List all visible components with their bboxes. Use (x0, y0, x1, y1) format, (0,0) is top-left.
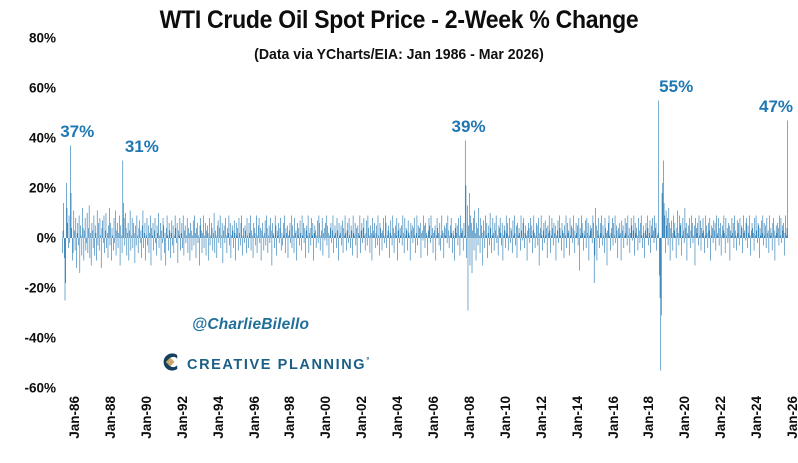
bar (297, 223, 298, 238)
bar (697, 223, 698, 238)
brand-name-label: CREATIVE PLANNING (187, 357, 366, 373)
bar (145, 223, 146, 238)
bar (527, 231, 528, 239)
bar (319, 223, 320, 238)
bar (315, 226, 316, 239)
bar (233, 238, 234, 248)
bar (312, 236, 313, 239)
bar (732, 233, 733, 238)
bar (672, 233, 673, 238)
bar (235, 238, 236, 261)
bar (213, 233, 214, 238)
bar (192, 236, 193, 239)
bar (535, 238, 536, 248)
bar (546, 236, 547, 239)
bar (724, 233, 725, 238)
bar (752, 228, 753, 238)
chart-container: WTI Crude Oil Spot Price - 2-Week % Chan… (0, 0, 798, 463)
bar (403, 233, 404, 238)
bar (696, 228, 697, 238)
bar (670, 228, 671, 238)
bar (303, 223, 304, 238)
bar (105, 231, 106, 239)
bar (356, 228, 357, 238)
bar (217, 226, 218, 239)
bar (180, 218, 181, 238)
bar (653, 231, 654, 239)
bar (527, 238, 528, 261)
bar (679, 238, 680, 246)
bar (198, 236, 199, 239)
bar (65, 238, 66, 283)
bar (645, 231, 646, 239)
bar (486, 236, 487, 239)
x-axis-tick-label: Jan-06 (426, 396, 441, 439)
bar (505, 231, 506, 239)
bar (524, 238, 525, 248)
bar (202, 233, 203, 238)
bar (266, 216, 267, 239)
bar (116, 231, 117, 239)
bar (398, 223, 399, 238)
x-axis-tick-label: Jan-04 (390, 396, 405, 439)
bar (170, 238, 171, 258)
bar (81, 236, 82, 239)
bar (397, 238, 398, 261)
bar (279, 238, 280, 243)
bar (466, 186, 467, 239)
bar (437, 218, 438, 238)
bar (77, 233, 78, 238)
bar (529, 228, 530, 238)
bar (175, 216, 176, 239)
bar (284, 216, 285, 239)
bar (157, 233, 158, 238)
bar (336, 238, 337, 248)
bar (775, 236, 776, 239)
bar (320, 238, 321, 251)
bar (298, 228, 299, 238)
bar (664, 203, 665, 238)
bar (465, 141, 466, 239)
bar (558, 238, 559, 243)
bar (427, 238, 428, 256)
bar (219, 228, 220, 238)
bar (646, 223, 647, 238)
bar (293, 236, 294, 239)
bar (196, 238, 197, 258)
bar (443, 238, 444, 258)
bar (137, 216, 138, 239)
bar (496, 216, 497, 239)
bar (662, 183, 663, 238)
bar (550, 238, 551, 253)
bar (666, 211, 667, 239)
bar (348, 238, 349, 243)
bar (64, 238, 65, 258)
bar (237, 228, 238, 238)
bar (539, 238, 540, 266)
bar (652, 236, 653, 239)
bar (457, 226, 458, 239)
bar (713, 238, 714, 243)
bar (75, 238, 76, 251)
bar (137, 236, 138, 239)
bar (255, 233, 256, 238)
bar (216, 236, 217, 239)
bar (400, 228, 401, 238)
bar (739, 238, 740, 246)
bar (656, 238, 657, 251)
bar (118, 233, 119, 238)
brand-name: CREATIVE PLANNING° (187, 356, 371, 373)
bar (300, 221, 301, 239)
bar (597, 231, 598, 239)
bar (695, 218, 696, 238)
bar (473, 218, 474, 238)
bar (387, 236, 388, 239)
bar (677, 211, 678, 239)
bar (408, 221, 409, 239)
bar (89, 206, 90, 239)
bar (345, 233, 346, 238)
bar (301, 238, 302, 251)
bar (221, 236, 222, 239)
bar (364, 236, 365, 239)
bar (544, 223, 545, 238)
bar (196, 228, 197, 238)
bar (772, 238, 773, 251)
bar (317, 236, 318, 239)
bar (683, 231, 684, 239)
bar (520, 238, 521, 251)
bar (358, 233, 359, 238)
bar (372, 238, 373, 261)
bar (325, 223, 326, 238)
bar (560, 228, 561, 238)
bar (643, 226, 644, 239)
bar (439, 238, 440, 246)
bar (462, 228, 463, 238)
bar (533, 216, 534, 239)
bar (294, 218, 295, 238)
bar (736, 236, 737, 239)
bar (484, 238, 485, 248)
bar (280, 228, 281, 238)
x-axis-tick-label: Jan-98 (282, 396, 297, 439)
bar (587, 233, 588, 238)
bar (156, 238, 157, 256)
bar (251, 238, 252, 251)
bar (630, 233, 631, 238)
bar (265, 238, 266, 246)
bar (567, 223, 568, 238)
bar (516, 226, 517, 239)
bar (271, 231, 272, 239)
bar (674, 231, 675, 239)
bar (249, 233, 250, 238)
bar (773, 218, 774, 238)
bar (256, 216, 257, 239)
bar (569, 238, 570, 256)
bar (139, 221, 140, 239)
creative-planning-logo-icon (160, 352, 180, 377)
bar (431, 236, 432, 239)
bar (519, 233, 520, 238)
bar (486, 223, 487, 238)
bar (540, 228, 541, 238)
bar (405, 236, 406, 239)
bar (184, 238, 185, 256)
bar (168, 238, 169, 251)
peak-annotation: 39% (452, 117, 486, 137)
bar (355, 238, 356, 246)
bar (489, 238, 490, 246)
bar (337, 231, 338, 239)
bar (384, 236, 385, 239)
bar (749, 216, 750, 239)
bar (141, 231, 142, 239)
bar (211, 223, 212, 238)
bar (522, 238, 523, 241)
bar (498, 238, 499, 256)
bar (323, 238, 324, 256)
bar (398, 231, 399, 239)
bar (306, 231, 307, 239)
bar (324, 228, 325, 238)
bar (140, 238, 141, 243)
bar (380, 228, 381, 238)
bar (267, 228, 268, 238)
bar (63, 231, 64, 239)
bar (199, 238, 200, 266)
bar (107, 233, 108, 238)
bar (347, 223, 348, 238)
bar (609, 216, 610, 239)
x-axis-tick-label: Jan-26 (785, 396, 798, 439)
bar (764, 223, 765, 238)
bar (186, 238, 187, 243)
bar (718, 218, 719, 238)
x-axis-tick-label: Jan-14 (570, 396, 585, 439)
bar (599, 238, 600, 248)
bar (578, 238, 579, 246)
bar (751, 231, 752, 239)
bar (362, 238, 363, 243)
bar (716, 216, 717, 239)
bar (353, 233, 354, 238)
bar (230, 223, 231, 238)
bar (313, 223, 314, 238)
bar (373, 231, 374, 239)
bar (260, 228, 261, 238)
bar (269, 226, 270, 239)
bar (114, 238, 115, 243)
bar (226, 236, 227, 239)
bar (431, 216, 432, 239)
bar (294, 238, 295, 253)
bar (153, 223, 154, 238)
bar (616, 226, 617, 239)
bar (507, 223, 508, 238)
bar (250, 216, 251, 239)
bar (418, 226, 419, 239)
bar (151, 228, 152, 238)
bar (194, 216, 195, 239)
bar (252, 236, 253, 239)
bar (157, 226, 158, 239)
bar (281, 238, 282, 251)
bar (86, 238, 87, 251)
bar (288, 238, 289, 258)
bar (284, 236, 285, 239)
bar (337, 218, 338, 238)
bar (375, 238, 376, 248)
bar (75, 218, 76, 238)
bar (470, 238, 471, 266)
bar (448, 216, 449, 239)
bar (282, 233, 283, 238)
author-watermark: @CharlieBilello (192, 316, 309, 334)
bar (80, 226, 81, 239)
bar (552, 218, 553, 238)
bar (287, 226, 288, 239)
bar (78, 238, 79, 246)
bar (482, 233, 483, 238)
bar (478, 238, 479, 246)
bar (709, 231, 710, 239)
bar (454, 238, 455, 261)
bar (272, 238, 273, 266)
bar (715, 223, 716, 238)
bar (639, 231, 640, 239)
bar (460, 216, 461, 239)
bar (596, 226, 597, 239)
bar (531, 226, 532, 239)
bar (712, 228, 713, 238)
bar (671, 221, 672, 239)
bar (580, 236, 581, 239)
bar (212, 238, 213, 251)
bar (111, 238, 112, 261)
bar (582, 233, 583, 238)
bar (302, 236, 303, 239)
bar (479, 236, 480, 239)
bar (257, 238, 258, 253)
bar (768, 231, 769, 239)
bar (547, 238, 548, 258)
bar (343, 228, 344, 238)
bar (644, 238, 645, 258)
bar (262, 223, 263, 238)
bar (785, 216, 786, 239)
bar (359, 236, 360, 239)
bar (440, 238, 441, 251)
bar (289, 231, 290, 239)
bar (288, 236, 289, 239)
bar (275, 216, 276, 239)
bar (120, 226, 121, 239)
bar (717, 236, 718, 239)
bar (593, 216, 594, 239)
bar (96, 233, 97, 238)
bar (65, 238, 66, 301)
bar (620, 233, 621, 238)
bar (72, 238, 73, 261)
bar (598, 218, 599, 238)
bar (701, 238, 702, 251)
bar (222, 223, 223, 238)
bar (314, 233, 315, 238)
bar (425, 223, 426, 238)
y-axis-tick-label: -20% (0, 281, 56, 296)
bar (753, 233, 754, 238)
bar (195, 233, 196, 238)
bar (318, 238, 319, 243)
bar (261, 231, 262, 239)
bar (754, 238, 755, 251)
bar (342, 221, 343, 239)
bar (668, 238, 669, 246)
bar (766, 238, 767, 248)
bar (235, 233, 236, 238)
bar (710, 238, 711, 261)
x-axis-tick-label: Jan-20 (677, 396, 692, 439)
bar (182, 238, 183, 248)
bar (92, 223, 93, 238)
bar (384, 238, 385, 243)
bar (332, 231, 333, 239)
bar (221, 238, 222, 248)
bar (591, 228, 592, 238)
bar (307, 236, 308, 239)
bar (190, 223, 191, 238)
bar (138, 238, 139, 253)
bar (603, 236, 604, 239)
bar (290, 223, 291, 238)
bar (619, 223, 620, 238)
bar (347, 231, 348, 239)
bar (97, 211, 98, 239)
bar (530, 218, 531, 238)
bar (243, 236, 244, 239)
bar (654, 238, 655, 243)
bar (295, 233, 296, 238)
bar (126, 228, 127, 238)
bar (233, 231, 234, 239)
bar (369, 236, 370, 239)
peak-annotation: 31% (125, 137, 159, 157)
bar (606, 233, 607, 238)
bar (451, 218, 452, 238)
bar (204, 238, 205, 248)
bar (204, 236, 205, 239)
bar (391, 236, 392, 239)
bar (472, 231, 473, 239)
bar (130, 211, 131, 239)
bar (572, 228, 573, 238)
bar (686, 223, 687, 238)
bar (300, 233, 301, 238)
bar (304, 238, 305, 243)
bar (244, 238, 245, 243)
bar (220, 216, 221, 239)
bar (411, 223, 412, 238)
bar (446, 223, 447, 238)
bar (636, 233, 637, 238)
bar (731, 236, 732, 239)
bar (462, 231, 463, 239)
